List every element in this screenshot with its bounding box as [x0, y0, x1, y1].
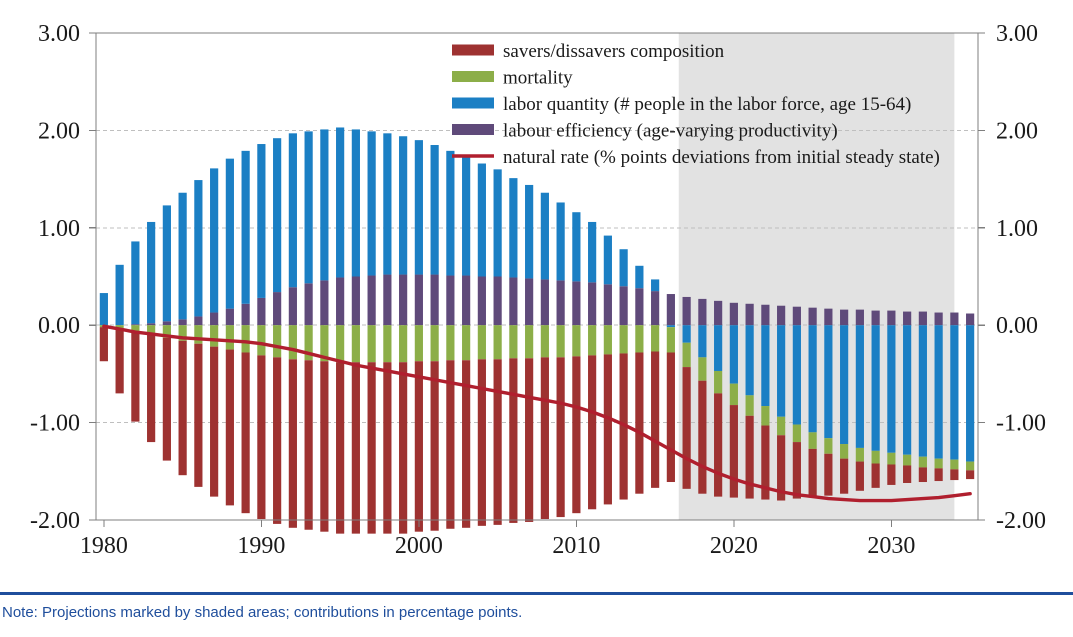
x-axis-labels: 198019902000201020202030: [80, 533, 916, 559]
y-tick-label-right: 2.00: [996, 118, 1038, 144]
legend-swatch: [452, 124, 494, 135]
y-tick-label-left: 3.00: [38, 21, 80, 47]
y-tick-label-right: -2.00: [996, 508, 1046, 534]
legend-label: labor quantity (# people in the labor fo…: [503, 94, 911, 115]
y-tick-label-right: 1.00: [996, 216, 1038, 242]
x-tick-label: 2010: [552, 533, 600, 559]
y-tick-label-right: -1.00: [996, 411, 1046, 437]
legend-swatch: [452, 45, 494, 56]
y-tick-label-left: 2.00: [38, 118, 80, 144]
legend-swatch: [452, 98, 494, 109]
x-tick-label: 1980: [80, 533, 128, 559]
x-tick-label: 1990: [237, 533, 285, 559]
y-axis-labels-right: -2.00-1.000.001.002.003.00: [996, 21, 1046, 534]
legend-label: mortality: [503, 68, 573, 89]
y-axis-labels-left: -2.00-1.000.001.002.003.00: [30, 21, 80, 534]
legend-label: savers/dissavers composition: [503, 41, 725, 62]
y-tick-label-left: 1.00: [38, 216, 80, 242]
y-tick-label-left: -2.00: [30, 508, 80, 534]
y-tick-label-right: 0.00: [996, 313, 1038, 339]
y-tick-label-left: 0.00: [38, 313, 80, 339]
note-text: Note: Projections marked by shaded areas…: [2, 604, 1062, 621]
legend-swatch: [452, 71, 494, 82]
x-tick-label: 2030: [867, 533, 915, 559]
x-tick-label: 2020: [710, 533, 758, 559]
chart-figure: -2.00-1.000.001.002.003.00 -2.00-1.000.0…: [0, 0, 1073, 637]
y-tick-label-left: -1.00: [30, 411, 80, 437]
note-divider: [0, 592, 1073, 595]
y-tick-label-right: 3.00: [996, 21, 1038, 47]
legend-label: labour efficiency (age-varying productiv…: [503, 121, 838, 142]
legend-label: natural rate (% points deviations from i…: [503, 147, 940, 168]
x-tick-label: 2000: [395, 533, 443, 559]
